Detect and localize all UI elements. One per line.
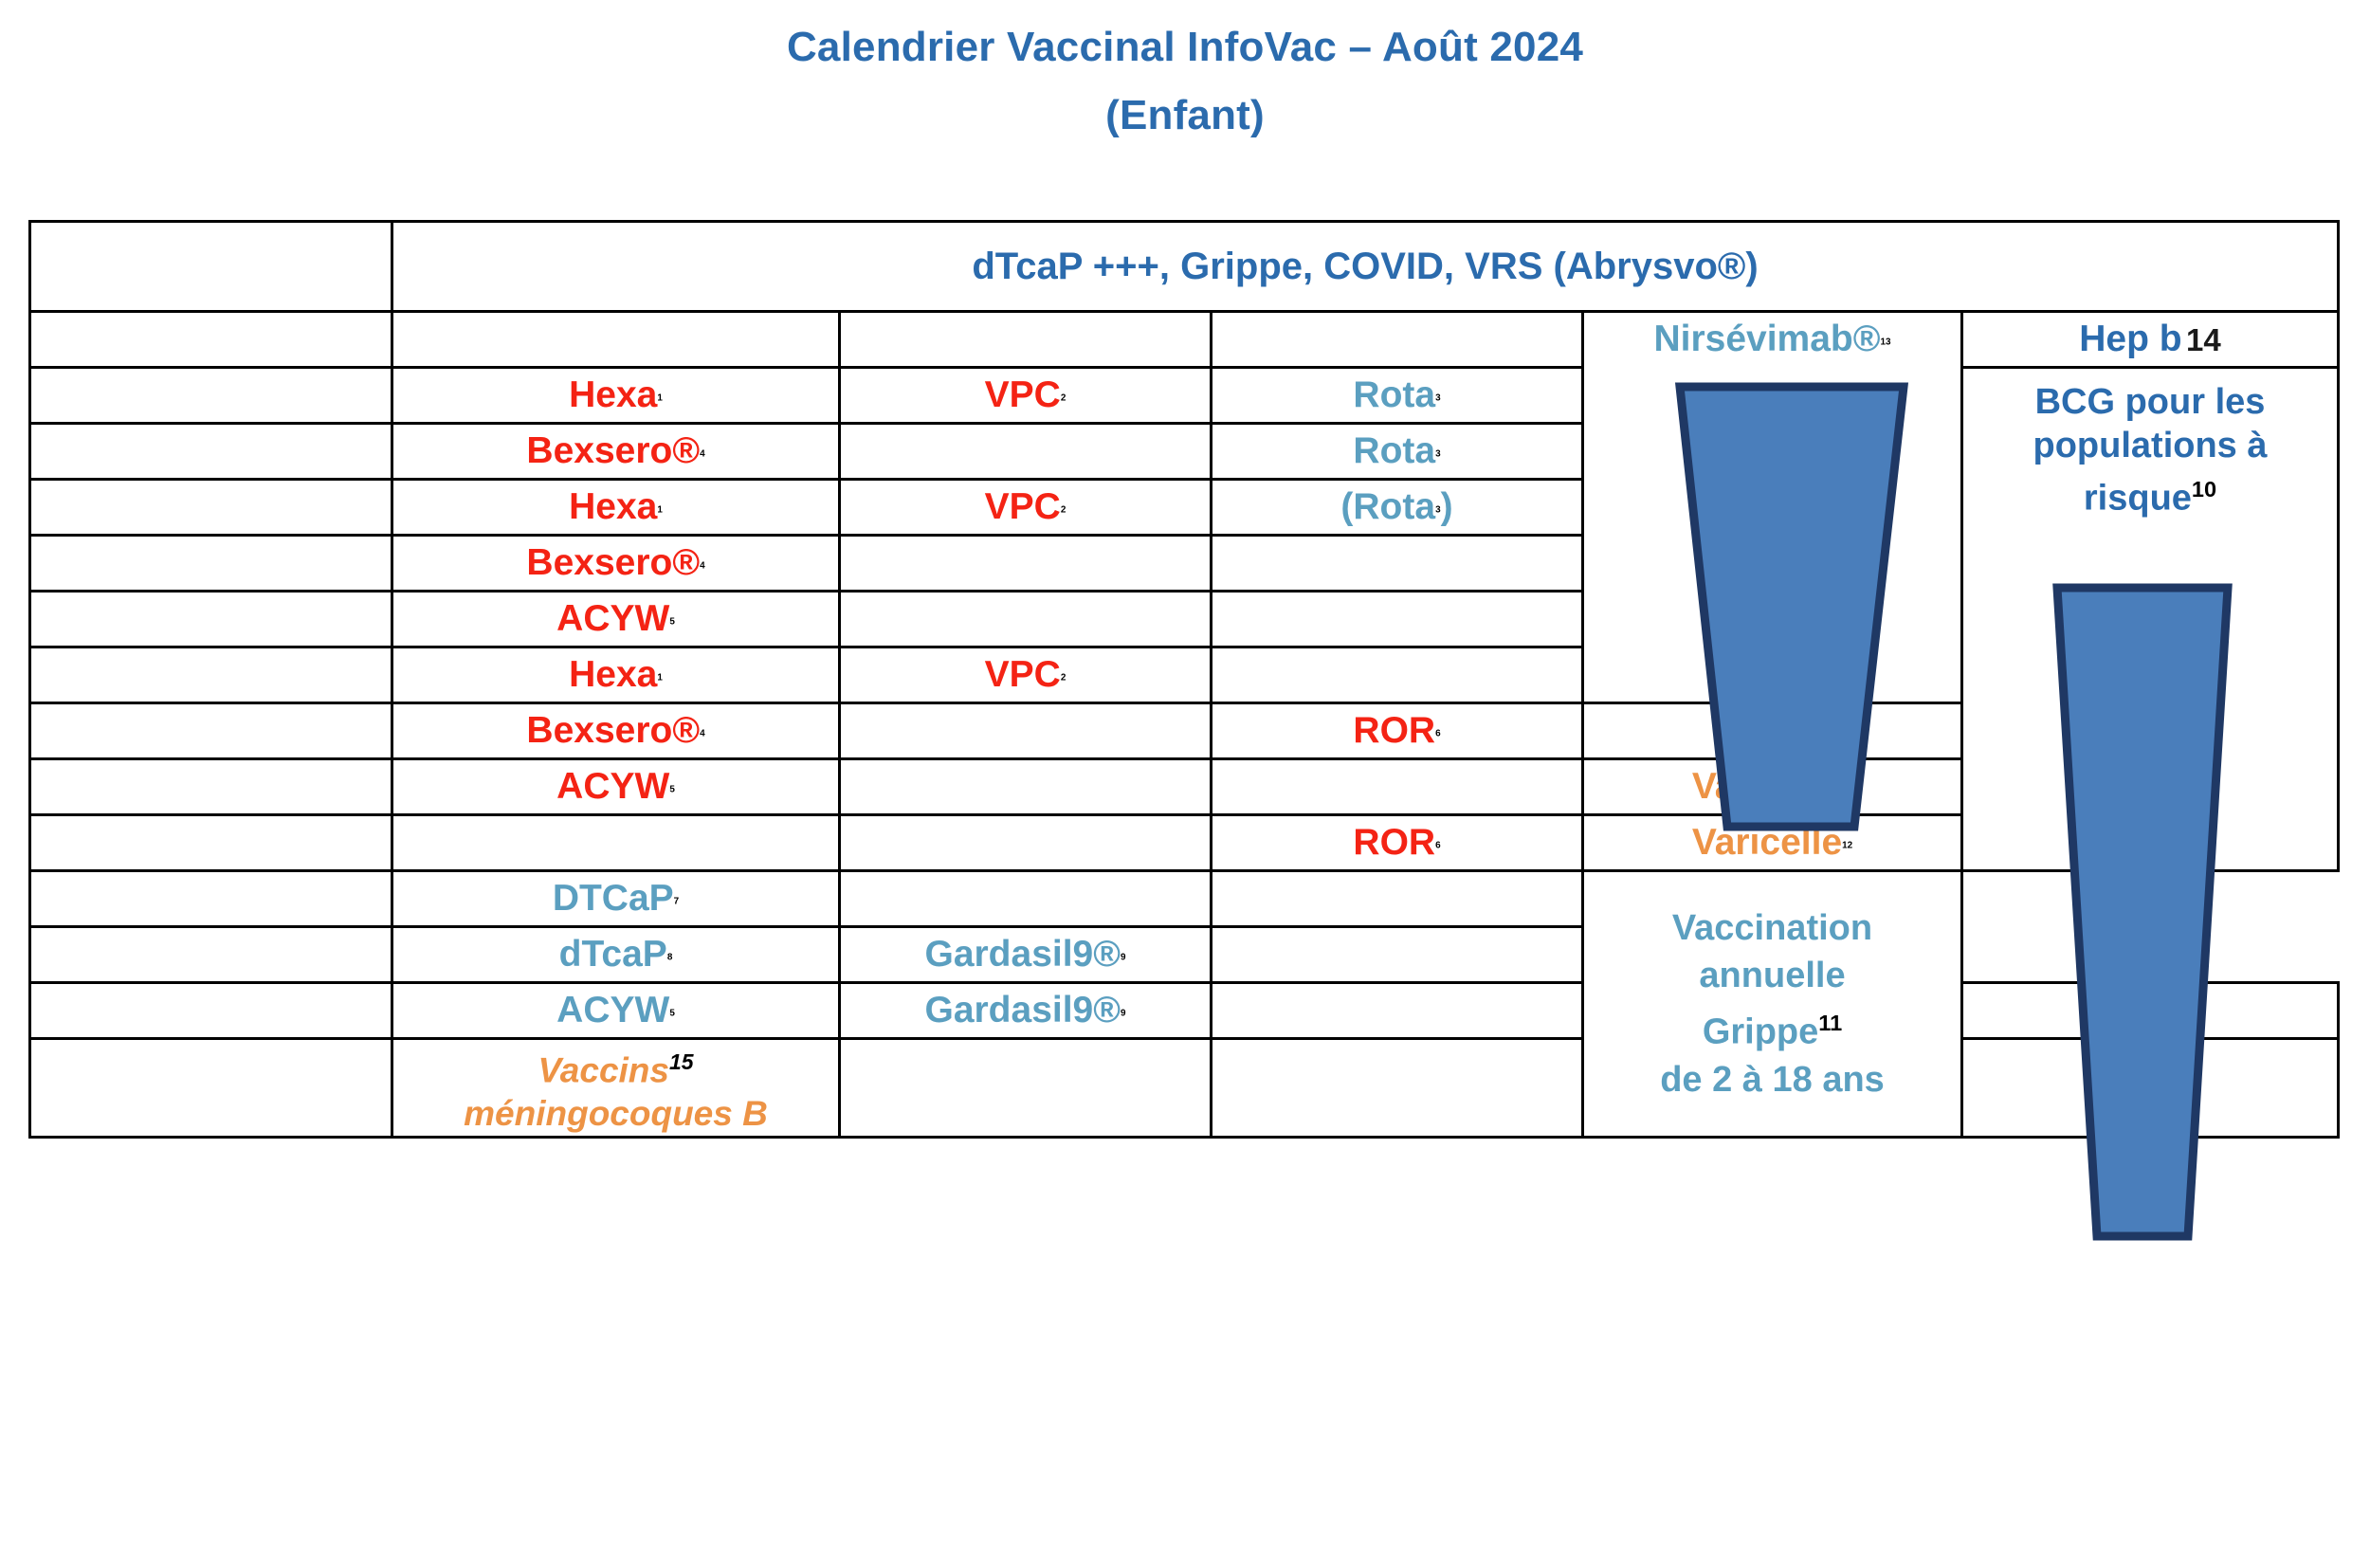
vaccine-footnote: 2 [1061, 505, 1066, 516]
vaccine-name: Rota [1353, 374, 1435, 415]
cell-vaccine-3: Rota3 [1212, 424, 1583, 480]
bcg-line-2: populations à [1963, 424, 2337, 467]
age-label-grossesse: Grossesse [30, 222, 392, 312]
cell-varicelle: Varicelle12 [1583, 759, 1962, 815]
cell-vaccine-1: Bexsero®4 [392, 536, 840, 592]
vaccine-footnote: 4 [700, 561, 705, 572]
cell-vaccine-1 [392, 815, 840, 871]
vaccine-footnote: 4 [700, 729, 705, 739]
cell-vaccine-2 [840, 759, 1212, 815]
table-row: 2 mois Hexa1 VPC2 Rota3 BCG pour les pop… [30, 368, 2339, 424]
vaccine-footnote: 2 [1061, 393, 1066, 404]
cell-vaccine-2 [840, 312, 1212, 368]
nirsevimab-label: Nirsévimab® [1653, 319, 1880, 359]
grippe-line-1: Vaccination [1584, 904, 1960, 952]
cell-vaccine-3 [1212, 592, 1583, 647]
age-label: 6 mois [30, 592, 392, 647]
vaccine-footnote: 9 [1121, 1009, 1126, 1019]
vaccine-footnote: 5 [669, 785, 675, 795]
cell-vaccine-1: Hexa1 [392, 647, 840, 703]
vaccine-name: ACYW [556, 598, 669, 639]
cell-vaccine-3 [1212, 871, 1583, 927]
hepb-label: Hep b [2079, 319, 2181, 359]
grippe-line-4: de 2 à 18 ans [1584, 1056, 1960, 1103]
hepb-number: 14 [2186, 322, 2221, 357]
vaccine-footnote: 8 [667, 953, 673, 963]
age-label: 11 mois [30, 647, 392, 703]
cell-vaccine-1: ACYW5 [392, 983, 840, 1039]
age-label: 5 mois [30, 536, 392, 592]
grippe-line-3: Grippe [1703, 1012, 1818, 1052]
cell-vaccine-2 [840, 703, 1212, 759]
vaccine-footnote: 1 [657, 393, 663, 404]
vaccine-schedule-table: Grossesse dTcaP +++, Grippe, COVID, VRS … [28, 220, 2340, 1139]
vaccine-name: Hexa [569, 374, 657, 415]
closing-paren: ) [1441, 486, 1453, 527]
vaccine-name: (Rota [1340, 486, 1435, 527]
cell-vaccine-2: VPC2 [840, 368, 1212, 424]
cell-vaccine-2 [840, 592, 1212, 647]
age-label: 12 mois [30, 703, 392, 759]
cell-vaccine-1: dTcaP8 [392, 927, 840, 983]
cell-vaccine-2 [840, 536, 1212, 592]
vaccine-name: Bexsero® [526, 430, 700, 471]
hepb-cell: Hep b 14 [1962, 312, 2339, 368]
age-label: 6 ans [30, 871, 392, 927]
vaccine-footnote: 12 [1842, 785, 1852, 795]
bcg-footnote: 10 [2192, 477, 2216, 501]
cell-vaccine-2: Gardasil9®9 [840, 983, 1212, 1039]
age-label: 0 mois [30, 312, 392, 368]
vaccine-name: Hexa [569, 486, 657, 527]
age-label: 2 mois [30, 368, 392, 424]
vaccine-name: Vaccins [538, 1050, 669, 1089]
cell-vaccine-2 [840, 1039, 1212, 1138]
age-label: 3 mois [30, 424, 392, 480]
age-label: 12 ans [30, 983, 392, 1039]
vaccine-footnote: 1 [657, 673, 663, 684]
cell-vaccine-2 [840, 871, 1212, 927]
cell-vaccine-2: Gardasil9®9 [840, 927, 1212, 983]
bcg-line-1: BCG pour les [1963, 380, 2337, 424]
vaccine-name: VPC [985, 374, 1061, 415]
cell-vaccine-3 [1212, 983, 1583, 1039]
cell-vaccine-3 [1212, 759, 1583, 815]
vaccine-name: VPC [985, 654, 1061, 695]
vaccine-footnote: 5 [669, 617, 675, 628]
vaccine-name-second-line: méningocoques B [393, 1092, 838, 1136]
vaccine-name: Rota [1353, 430, 1435, 471]
cell-vaccine-1: Hexa1 [392, 368, 840, 424]
cell-vaccine-3 [1212, 536, 1583, 592]
bcg-line-3: risque [2084, 479, 2192, 519]
vaccine-name: Gardasil9® [924, 934, 1121, 975]
cell-vaccine-3 [1212, 927, 1583, 983]
table-row: 12 ans ACYW5 Gardasil9®9 [30, 983, 2339, 1039]
table-row: 11 ans dTcaP8 Gardasil9®9 [30, 927, 2339, 983]
age-label: 16-18 mois [30, 815, 392, 871]
cell-vaccine-3: (Rota3) [1212, 480, 1583, 536]
table-row: 6 ans DTCaP7 Vaccination annuelle Grippe… [30, 871, 2339, 927]
table-row: 0 mois Nirsévimab®13 Hep b 14 [30, 312, 2339, 368]
vaccination-schedule-page: Calendrier Vaccinal InfoVac – Août 2024 … [0, 0, 2370, 1568]
vaccine-name: Hexa [569, 654, 657, 695]
vaccine-name: Gardasil9® [924, 990, 1121, 1030]
cell-vaccine-3 [1212, 647, 1583, 703]
cell-vaccine-2: VPC2 [840, 480, 1212, 536]
cell-vaccine-3: Rota3 [1212, 368, 1583, 424]
cell-vaccine-4 [1583, 703, 1962, 759]
vaccine-name: DTCaP [553, 878, 674, 919]
vaccine-name: Varicelle [1692, 766, 1842, 807]
vaccine-name: VPC [985, 486, 1061, 527]
cell-vaccine-1: Vaccins15 méningocoques B [392, 1039, 840, 1138]
title-line-2: (Enfant) [0, 82, 2370, 150]
vaccine-footnote: 3 [1435, 449, 1441, 460]
vaccine-footnote: 9 [1121, 953, 1126, 963]
cell-vaccine-5-empty [1962, 983, 2339, 1039]
cell-vaccine-1: Bexsero®4 [392, 703, 840, 759]
age-label: 13 mois [30, 759, 392, 815]
cell-vaccine-3 [1212, 1039, 1583, 1138]
cell-vaccine-5-empty [1962, 1039, 2339, 1138]
vaccine-footnote: 12 [1842, 841, 1852, 851]
table-row: 14 ans Vaccins15 méningocoques B [30, 1039, 2339, 1138]
cell-vaccine-1: ACYW5 [392, 759, 840, 815]
vaccine-footnote: 3 [1435, 393, 1441, 404]
cell-vaccine-1 [392, 312, 840, 368]
pregnancy-vaccines-banner: dTcaP +++, Grippe, COVID, VRS (Abrysvo®) [392, 222, 2339, 312]
vaccine-name: dTcaP [559, 934, 667, 975]
grippe-line-2: annuelle [1584, 952, 1960, 999]
cell-vaccine-1: Hexa1 [392, 480, 840, 536]
cell-vaccine-3 [1212, 312, 1583, 368]
vaccine-footnote: 6 [1435, 729, 1441, 739]
nirsevimab-superscript: 13 [1880, 337, 1890, 348]
vaccine-footnote: 7 [674, 897, 680, 907]
cell-vaccine-1: ACYW5 [392, 592, 840, 647]
table-row-grossesse: Grossesse dTcaP +++, Grippe, COVID, VRS … [30, 222, 2339, 312]
vaccine-name: ROR [1353, 822, 1435, 863]
age-label: 14 ans [30, 1039, 392, 1138]
vaccine-footnote: 6 [1435, 841, 1441, 851]
page-title: Calendrier Vaccinal InfoVac – Août 2024 … [0, 13, 2370, 150]
vaccine-name: Bexsero® [526, 542, 700, 583]
vaccine-name: ACYW [556, 766, 669, 807]
cell-vaccine-1: DTCaP7 [392, 871, 840, 927]
vaccine-footnote: 5 [669, 1009, 675, 1019]
grippe-annual-cell: Vaccination annuelle Grippe11 de 2 à 18 … [1583, 871, 1962, 1138]
cell-vaccine-2 [840, 815, 1212, 871]
title-line-1: Calendrier Vaccinal InfoVac – Août 2024 [0, 13, 2370, 82]
cell-vaccine-3: ROR6 [1212, 815, 1583, 871]
vaccine-name: ACYW [556, 990, 669, 1030]
cell-vaccine-1: Bexsero®4 [392, 424, 840, 480]
vaccine-name: Varicelle [1692, 822, 1842, 863]
vaccine-footnote: 4 [700, 449, 705, 460]
age-label: 4 mois [30, 480, 392, 536]
vaccine-name: ROR [1353, 710, 1435, 751]
bcg-cell: BCG pour les populations à risque10 [1962, 368, 2339, 871]
cell-varicelle: Varicelle12 [1583, 815, 1962, 871]
grippe-footnote: 11 [1818, 1011, 1842, 1035]
vaccine-name: Bexsero® [526, 710, 700, 751]
vaccine-footnote: 1 [657, 505, 663, 516]
cell-vaccine-2: VPC2 [840, 647, 1212, 703]
vaccine-footnote: 2 [1061, 673, 1066, 684]
age-label: 11 ans [30, 927, 392, 983]
cell-vaccine-3: ROR6 [1212, 703, 1583, 759]
cell-vaccine-2 [840, 424, 1212, 480]
vaccine-footnote: 15 [669, 1049, 694, 1074]
nirsevimab-cell: Nirsévimab®13 [1583, 312, 1962, 703]
